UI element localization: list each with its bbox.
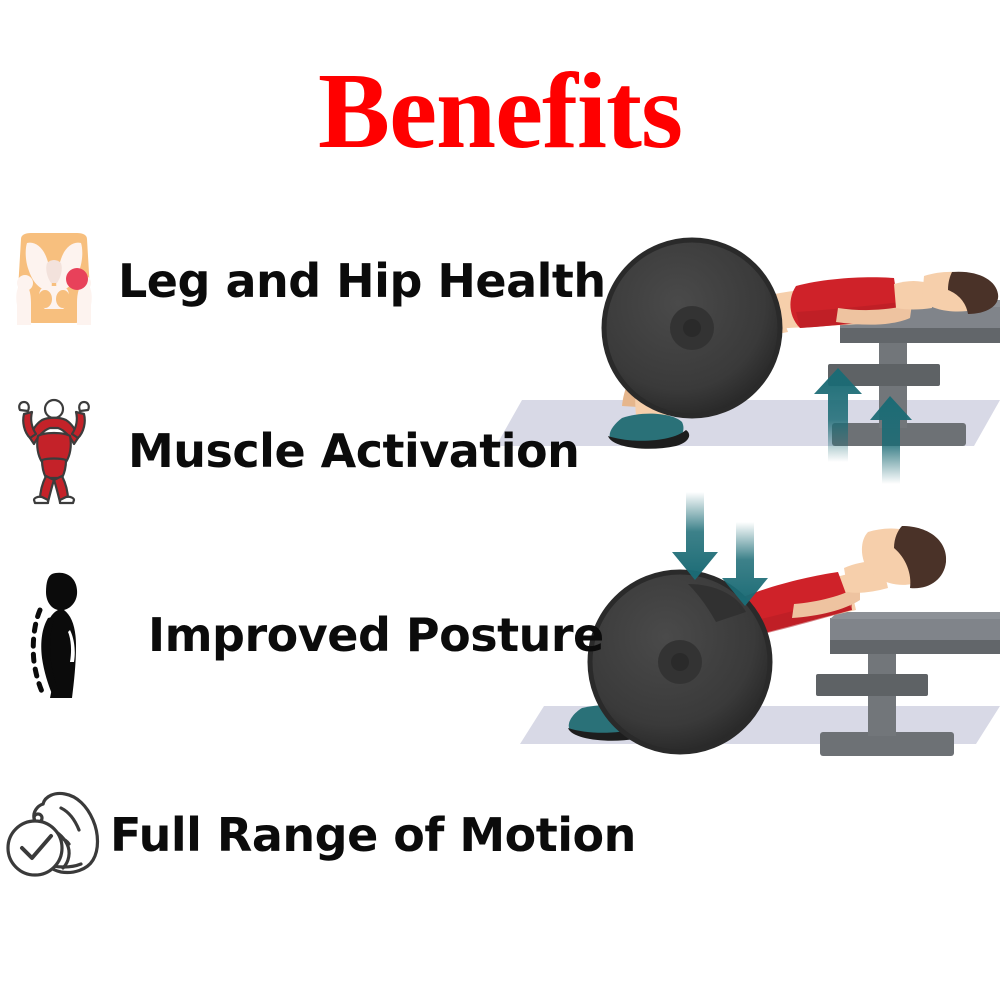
flexed-bicep-check-icon: [6, 780, 102, 890]
benefit-label: Full Range of Motion: [110, 808, 636, 862]
muscle-arm-left: [23, 412, 36, 438]
bench-pad-front: [840, 328, 1000, 343]
bicep-shoulder-crease: [61, 808, 79, 830]
muscle-figure-head: [45, 400, 63, 418]
benefit-item-full-range-of-motion[interactable]: Full Range of Motion: [6, 780, 636, 890]
femur-head-left: [17, 275, 33, 291]
bench-pad-front: [830, 640, 1000, 654]
posture-head: [46, 573, 77, 611]
posture-silhouette-icon: [10, 580, 106, 690]
arrow-down-large: [672, 492, 718, 580]
barbell-plate-hub-inner: [683, 319, 701, 337]
pelvis-hip-bone-icon: [6, 226, 102, 336]
benefit-item-muscle-activation[interactable]: Muscle Activation: [6, 396, 579, 506]
muscle-fist-right: [79, 402, 89, 411]
benefit-label: Improved Posture: [148, 608, 604, 662]
barbell-plate-hub-inner: [671, 653, 689, 671]
pelvis-foramen-right: [56, 290, 70, 308]
muscle-anatomy-figure-icon: [6, 396, 102, 506]
benefit-label: Muscle Activation: [128, 424, 579, 478]
muscle-fist-left: [19, 402, 29, 411]
muscle-arm-right: [72, 412, 85, 438]
benefit-label: Leg and Hip Health: [118, 254, 606, 308]
check-circle: [8, 821, 62, 875]
bench-pad-top: [830, 618, 1000, 640]
hip-pain-marker-dot: [66, 268, 88, 290]
page-title: Benefits: [0, 58, 1000, 166]
benefit-item-improved-posture[interactable]: Improved Posture: [10, 580, 604, 690]
bench-crossbar: [816, 674, 928, 696]
infographic-canvas: Benefits: [0, 0, 1000, 1000]
benefit-item-leg-and-hip-health[interactable]: Leg and Hip Health: [6, 226, 606, 336]
bench-pad-bevel: [830, 612, 1000, 619]
pelvis-foramen-left: [38, 290, 52, 308]
